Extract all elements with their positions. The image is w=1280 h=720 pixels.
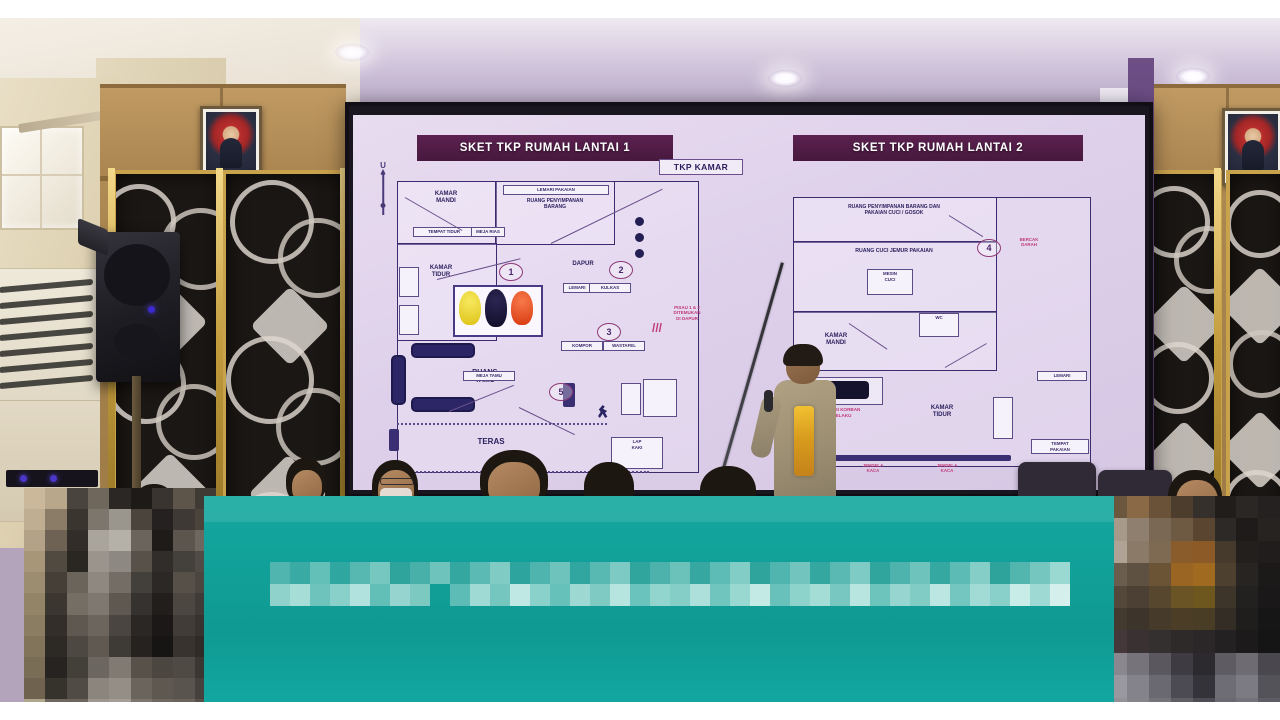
plan1-box-a: TEMPAT TIDUR <box>413 227 475 237</box>
banner-censored-text <box>270 562 1070 606</box>
teal-banner <box>204 496 1114 702</box>
plan1-box-j <box>621 383 641 415</box>
plan1-box-c <box>399 267 419 297</box>
marker-5: 5 <box>549 383 573 401</box>
police-officer-presenter <box>770 348 842 508</box>
plan2-box-tempatpakaian: TEMPATPAKAIAN <box>1031 439 1089 454</box>
label-kamar-tidur-2: KAMARTIDUR <box>907 405 977 419</box>
plan1-box-g: KOMPOR <box>561 341 603 351</box>
label-ruang-penyimpanan-2: RUANG PENYIMPANAN BARANG DANPAKAIAN CUCI… <box>797 205 991 217</box>
marker-3: 3 <box>597 323 621 341</box>
air-conditioner <box>0 268 108 410</box>
label-kamar-mandi-1: KAMARMANDI <box>411 191 481 205</box>
plan2-box-mesincuci: MESINCUCI <box>867 269 913 295</box>
screenshot-root: SKET TKP RUMAH LANTAI 1 U KAMARMANDI LEM… <box>0 0 1280 720</box>
plan1-sofa-3 <box>391 355 406 405</box>
callout-tkp-kamar: TKP KAMAR <box>659 159 743 175</box>
letterbox-bottom <box>0 702 1280 720</box>
plan2-box-jendela <box>993 397 1013 439</box>
projection-screen: SKET TKP RUMAH LANTAI 1 U KAMARMANDI LEM… <box>353 115 1145 490</box>
plan1-door-1 <box>389 429 399 451</box>
marker-4-note: BERCAKDARAH <box>1005 237 1053 248</box>
label-dapur: DAPUR <box>559 261 607 268</box>
ac-display-panel <box>6 470 98 487</box>
teras-dashed-edge <box>397 423 607 425</box>
ceiling-downlight-2 <box>768 70 802 87</box>
plan1-box-d <box>399 305 419 335</box>
plan1-appliance-2 <box>635 233 644 242</box>
slide-lantai-1: SKET TKP RUMAH LANTAI 1 U KAMARMANDI LEM… <box>353 115 749 490</box>
plan1-box-f: KULKAS <box>589 283 631 293</box>
plan1-appliance-3 <box>635 249 644 258</box>
letterbox-top <box>0 0 1280 18</box>
figure-yellow <box>459 291 481 325</box>
ceiling-downlight-1 <box>335 44 369 61</box>
window <box>0 126 84 230</box>
plan2-box-wc: WC <box>919 313 959 337</box>
photo-scene: SKET TKP RUMAH LANTAI 1 U KAMARMANDI LEM… <box>0 18 1280 702</box>
annotation-pisau: PISAU 1 & 2DITEMUKANDI DAPUR <box>653 305 721 321</box>
label-jendela-kaca-2: JENDELAKACA <box>923 463 971 474</box>
label-lemari-pakaian: LEMARI PAKAIAN <box>503 185 609 195</box>
pa-speaker <box>96 232 180 382</box>
officer-hair <box>783 344 823 366</box>
marker-4: 4 <box>977 239 1001 257</box>
figure-black <box>485 289 507 327</box>
plan1-box-h: WASTAFEL <box>603 341 645 351</box>
label-ruang-cuci-jemur: RUANG CUCI JEMUR PAKAIAN <box>797 249 991 255</box>
marker-1: 1 <box>499 263 523 281</box>
compass-north: U <box>375 161 391 219</box>
plan1-box-k <box>643 379 677 417</box>
label-ruang-penyimpanan: RUANG PENYIMPANANBARANG <box>497 199 613 211</box>
label-jendela-kaca-1: JENDELAKACA <box>849 463 897 474</box>
slide-1-title: SKET TKP RUMAH LANTAI 1 <box>417 135 673 161</box>
audience-glasses-3 <box>380 478 414 485</box>
pink-tick-1: /// <box>637 321 677 335</box>
plan1-box-b: MEJA RIAS <box>471 227 505 237</box>
plan1-box-i: MEJA TAMU <box>463 371 515 381</box>
plan1-appliance-1 <box>635 217 644 226</box>
label-teras: TERAS <box>455 437 527 446</box>
slide-2-title: SKET TKP RUMAH LANTAI 2 <box>793 135 1083 161</box>
marker-2: 2 <box>609 261 633 279</box>
figure-orange <box>511 291 533 325</box>
plan1-sofa-1 <box>411 343 475 358</box>
plan1-box-e: LEMARI <box>563 283 591 293</box>
ceiling-downlight-3 <box>1176 68 1210 85</box>
plan2-box-lemari: LEMARI <box>1037 371 1087 381</box>
censor-block-left <box>24 488 216 702</box>
officer-insignia-sash <box>794 406 814 476</box>
projection-screen-frame: SKET TKP RUMAH LANTAI 1 U KAMARMANDI LEM… <box>345 102 1153 498</box>
microphone <box>764 390 773 412</box>
